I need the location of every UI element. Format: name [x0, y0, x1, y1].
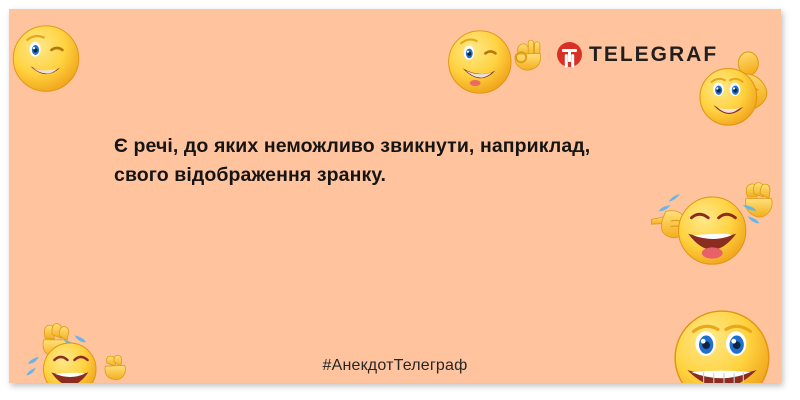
telegraf-t-icon — [557, 42, 582, 67]
telegraf-wordmark: TELEGRAF — [589, 44, 718, 65]
laughing-tears-pointing-icon — [645, 181, 781, 281]
joke-text: Є речі, до яких неможливо звикнути, напр… — [114, 132, 714, 190]
image-frame: TELEGRAF Є речі, до яких неможливо звикн… — [0, 0, 800, 400]
winking-smiley-icon — [9, 18, 85, 96]
joke-card: TELEGRAF Є речі, до яких неможливо звикн… — [9, 9, 781, 383]
telegraf-logo[interactable]: TELEGRAF — [557, 42, 718, 67]
winking-smiley-ok-hand-icon — [441, 23, 553, 101]
hashtag-label: #АнекдотТелеграф — [9, 357, 781, 375]
